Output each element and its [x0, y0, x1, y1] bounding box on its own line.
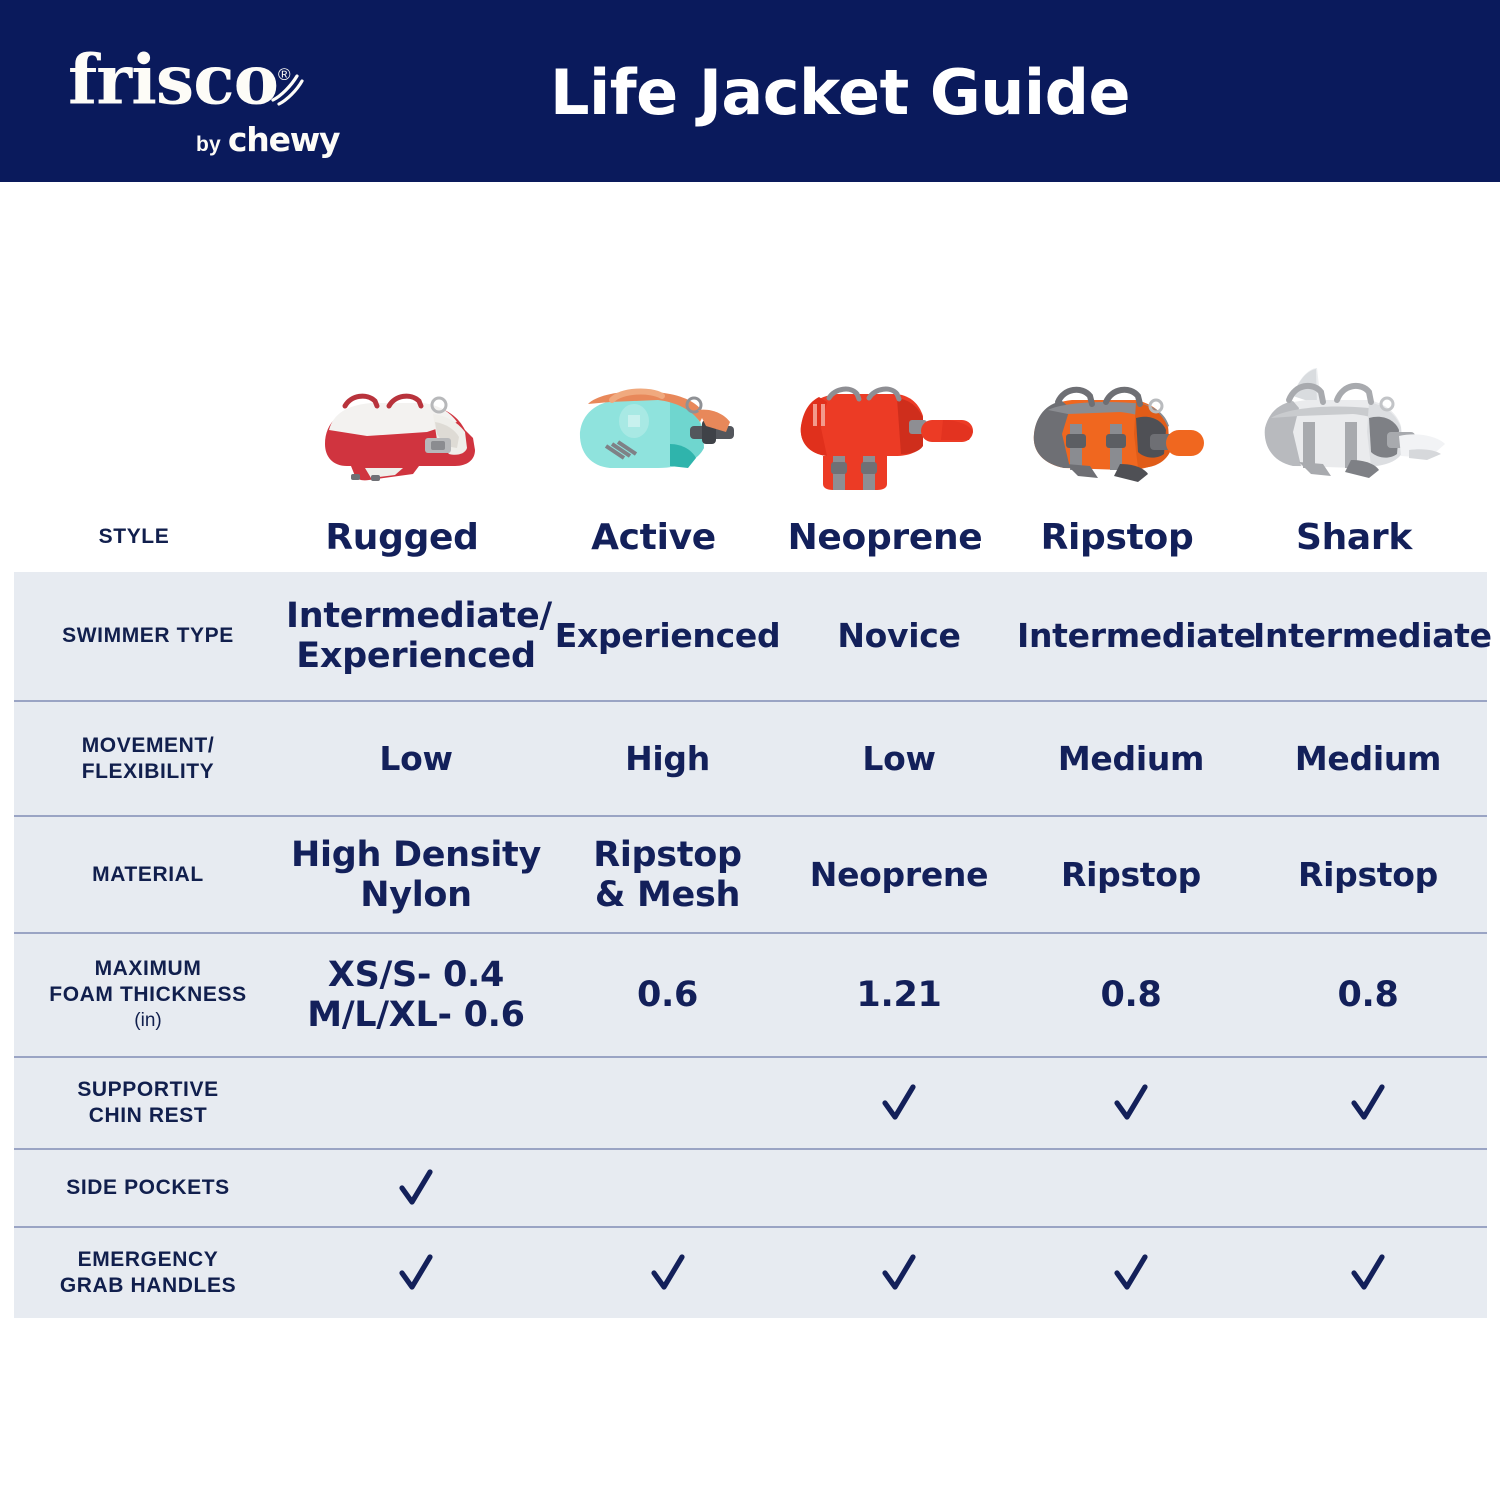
cell-line: Intermediate [1017, 616, 1256, 655]
row-label-line: GRAB HANDLES [60, 1274, 236, 1297]
table-cell: Intermediate/Experienced [282, 596, 550, 676]
style-row-label: STYLE [0, 524, 268, 550]
cell-line: M/L/XL- 0.6 [307, 995, 524, 1035]
style-name-shark: Shark [1235, 517, 1473, 558]
row-label-line: SWIMMER TYPE [62, 624, 234, 647]
cell-line: Ripstop [593, 835, 742, 875]
table-cell: Medium [1249, 739, 1487, 779]
cell-line: Medium [1295, 739, 1441, 778]
table-cell: Ripstop& Mesh [550, 835, 785, 915]
cell-line: XS/S- 0.4 [328, 955, 504, 995]
neoprene-life-jacket-image [771, 182, 999, 502]
table-cell: Intermediate [1249, 616, 1487, 656]
cell-line: Novice [837, 616, 960, 655]
checkmark-icon [1249, 1083, 1487, 1123]
checkmark-icon [1013, 1253, 1249, 1293]
table-cell: XS/S- 0.4M/L/XL- 0.6 [282, 955, 550, 1035]
cell-line: Nylon [360, 875, 472, 915]
table-cell: Ripstop [1249, 855, 1487, 895]
cell-line: Low [862, 739, 935, 778]
table-cell: Experienced [550, 616, 785, 656]
table-cell: Low [282, 739, 550, 779]
cell-line: 0.6 [637, 975, 698, 1015]
table-cell: Intermediate [1013, 616, 1249, 656]
cell-line: Experienced [555, 616, 781, 655]
cell-line: 0.8 [1100, 975, 1161, 1015]
page-title: Life Jacket Guide [0, 56, 1500, 129]
cell-line: 1.21 [856, 975, 941, 1015]
table-cell: 0.8 [1249, 975, 1487, 1015]
table-row: SWIMMER TYPEIntermediate/ExperiencedExpe… [14, 572, 1487, 700]
table-cell: Medium [1013, 739, 1249, 779]
table-cell: Neoprene [785, 855, 1013, 895]
comparison-table: SWIMMER TYPEIntermediate/ExperiencedExpe… [14, 572, 1487, 1318]
style-name-neoprene: Neoprene [771, 517, 999, 558]
row-label-line: SUPPORTIVE [77, 1078, 218, 1101]
checkmark-icon [785, 1253, 1013, 1293]
cell-line: Intermediate [1253, 616, 1492, 655]
table-cell: High [550, 739, 785, 779]
style-name-active: Active [536, 517, 771, 558]
cell-line: Medium [1058, 739, 1204, 778]
row-label-line: EMERGENCY [78, 1248, 219, 1271]
cell-line: Experienced [296, 636, 535, 676]
row-label: SWIMMER TYPE [14, 623, 282, 649]
page-header-band: frisco® by chewy Life Jacket Guide [0, 0, 1500, 182]
table-row: MOVEMENT/FLEXIBILITYLowHighLowMediumMedi… [14, 700, 1487, 815]
row-label: MATERIAL [14, 862, 282, 888]
table-cell: High DensityNylon [282, 835, 550, 915]
row-label-unit: (in) [14, 1008, 282, 1034]
rugged-life-jacket-image [268, 182, 536, 502]
table-cell: 1.21 [785, 975, 1013, 1015]
cell-line: Neoprene [810, 855, 988, 894]
checkmark-icon [282, 1253, 550, 1293]
cell-line: High [625, 739, 710, 778]
shark-life-jacket-image [1235, 182, 1473, 502]
table-cell: 0.6 [550, 975, 785, 1015]
table-row: SUPPORTIVECHIN REST [14, 1056, 1487, 1148]
row-label: MAXIMUMFOAM THICKNESS(in) [14, 956, 282, 1034]
row-label-line: FLEXIBILITY [82, 760, 215, 783]
row-label: MOVEMENT/FLEXIBILITY [14, 733, 282, 785]
active-life-jacket-image [536, 182, 771, 502]
checkmark-icon [1013, 1083, 1249, 1123]
footer-whitespace [0, 1318, 1500, 1496]
cell-line: Intermediate/ [286, 596, 552, 636]
row-label-line: MOVEMENT/ [82, 734, 215, 757]
table-cell: 0.8 [1013, 975, 1249, 1015]
checkmark-icon [1249, 1253, 1487, 1293]
cell-line: Low [379, 739, 452, 778]
table-cell: Novice [785, 616, 1013, 656]
style-name-rugged: Rugged [268, 517, 536, 558]
row-label-line: CHIN REST [89, 1104, 208, 1127]
cell-line: & Mesh [595, 875, 740, 915]
cell-line: 0.8 [1337, 975, 1398, 1015]
row-label: SUPPORTIVECHIN REST [14, 1077, 282, 1129]
row-label: SIDE POCKETS [14, 1175, 282, 1201]
cell-line: High Density [291, 835, 541, 875]
table-cell: Low [785, 739, 1013, 779]
style-name-ripstop: Ripstop [999, 517, 1235, 558]
row-label-line: MATERIAL [92, 863, 204, 886]
cell-line: Ripstop [1061, 855, 1201, 894]
table-row: MATERIALHigh DensityNylonRipstop& MeshNe… [14, 815, 1487, 932]
table-row: SIDE POCKETS [14, 1148, 1487, 1226]
row-label: EMERGENCYGRAB HANDLES [14, 1247, 282, 1299]
row-label-line: MAXIMUM [95, 957, 202, 980]
row-label-line: SIDE POCKETS [66, 1176, 230, 1199]
by-text: by [196, 133, 221, 157]
checkmark-icon [282, 1168, 550, 1208]
product-image-strip [0, 182, 1500, 502]
ripstop-life-jacket-image [999, 182, 1235, 502]
style-header-row: STYLE Rugged Active Neoprene Ripstop Sha… [0, 502, 1500, 572]
row-label-line: FOAM THICKNESS [49, 983, 246, 1006]
checkmark-icon [550, 1253, 785, 1293]
table-cell: Ripstop [1013, 855, 1249, 895]
table-row: MAXIMUMFOAM THICKNESS(in)XS/S- 0.4M/L/XL… [14, 932, 1487, 1056]
table-row: EMERGENCYGRAB HANDLES [14, 1226, 1487, 1318]
checkmark-icon [785, 1083, 1013, 1123]
cell-line: Ripstop [1298, 855, 1438, 894]
